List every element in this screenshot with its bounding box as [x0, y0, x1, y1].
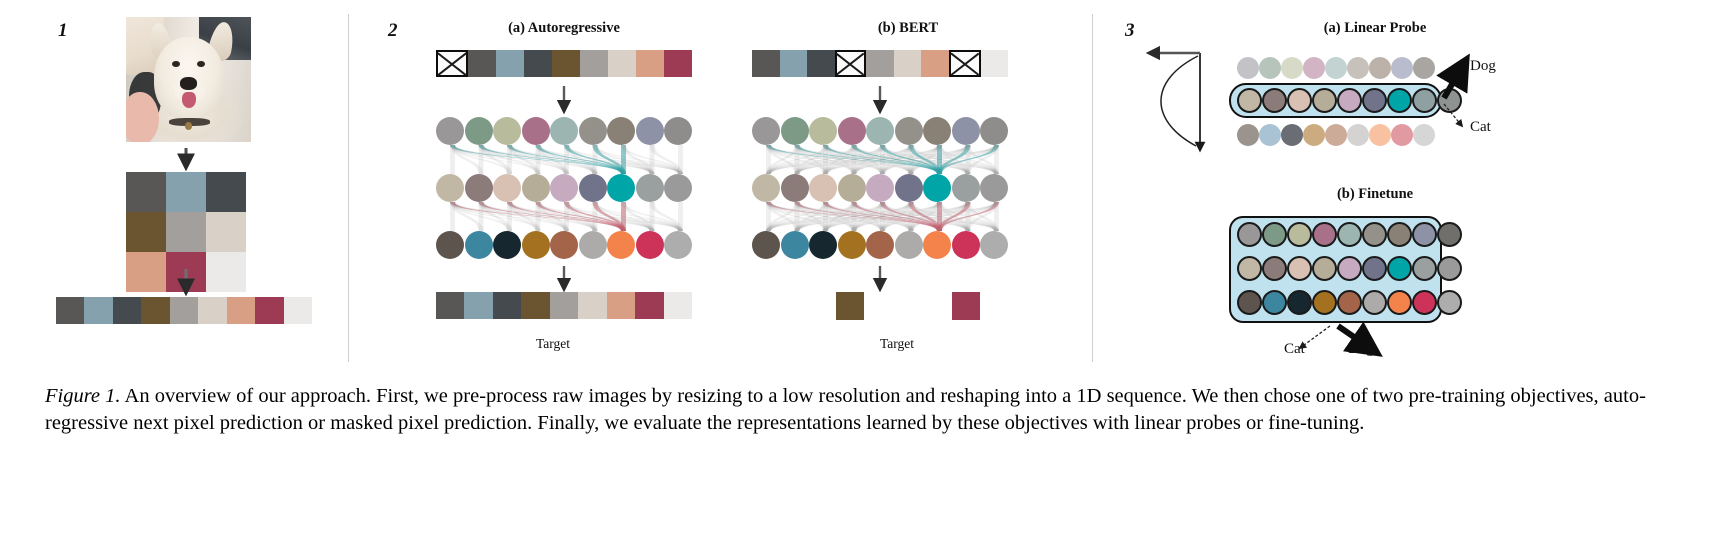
- attention-connection: [766, 145, 857, 174]
- attention-connection: [795, 202, 857, 231]
- attention-connection: [823, 202, 999, 231]
- ar-layer3-node: [550, 231, 578, 259]
- finetune-row1-node: [1237, 222, 1262, 247]
- probe-row-bottom-node: [1303, 124, 1325, 146]
- attention-connection: [507, 145, 569, 174]
- attention-connection: [823, 202, 942, 231]
- finetune-row3-node: [1262, 290, 1287, 315]
- attention-connection: [823, 145, 971, 174]
- attention-connection: [823, 145, 885, 174]
- bert-layer-3: [752, 231, 1008, 259]
- ar-layer2-node: [493, 174, 521, 202]
- attention-connection: [795, 145, 914, 174]
- attention-connection: [852, 202, 886, 231]
- attention-connection: [479, 202, 655, 231]
- probe-row-top-node: [1325, 57, 1347, 79]
- caption-body: An overview of our approach. First, we p…: [45, 385, 1646, 434]
- attention-connection: [852, 145, 943, 174]
- attention-connection: [852, 145, 971, 174]
- ar-layer2-node: [636, 174, 664, 202]
- attention-connection: [852, 202, 971, 231]
- attention-connection: [880, 202, 885, 231]
- attention-connection: [852, 145, 886, 174]
- attention-connection: [937, 145, 942, 174]
- attention-connection: [507, 202, 626, 231]
- attention-connection: [795, 202, 914, 231]
- finetune-row1-node: [1362, 222, 1387, 247]
- attention-connection: [450, 202, 626, 231]
- bert-input-token: [866, 50, 894, 77]
- attention-connection: [621, 145, 683, 174]
- attention-connection: [795, 202, 886, 231]
- attention-connection: [450, 202, 598, 231]
- attention-connection: [450, 145, 626, 174]
- attention-connection: [823, 145, 942, 174]
- attention-connection: [450, 202, 541, 231]
- attention-connection: [795, 145, 971, 174]
- ar-output-token: [464, 292, 492, 319]
- attention-connection: [795, 202, 943, 231]
- attention-connection: [795, 202, 914, 231]
- attention-connection: [880, 145, 914, 174]
- attention-connection: [536, 145, 541, 174]
- attention-connection: [880, 202, 942, 231]
- ar-layer2-node: [607, 174, 635, 202]
- attention-connection: [766, 145, 800, 174]
- attention-connection: [909, 145, 1000, 174]
- probe-row-bottom-node: [1281, 124, 1303, 146]
- bert-layer3-node: [980, 231, 1008, 259]
- attention-connection: [937, 202, 999, 231]
- ar-layer3-node: [493, 231, 521, 259]
- bert-layer2-node: [895, 174, 923, 202]
- finetune-row2-node: [1262, 256, 1287, 281]
- attention-connection: [766, 202, 942, 231]
- attention-connection: [450, 202, 683, 231]
- attention-connection: [852, 145, 914, 174]
- pixel-grid-cell: [206, 212, 246, 252]
- finetune-row2-node: [1337, 256, 1362, 281]
- attention-connection: [880, 145, 942, 174]
- attention-connection: [766, 145, 771, 174]
- sequence-token: [227, 297, 255, 324]
- attention-connection: [852, 202, 943, 231]
- dog-photo: [126, 17, 251, 142]
- probe-row-mid-node: [1437, 88, 1462, 113]
- attention-connection: [564, 202, 655, 231]
- probe-row-top-node: [1347, 57, 1369, 79]
- attention-connection: [880, 202, 914, 231]
- bert-input-token: [752, 50, 780, 77]
- bert-layer3-node: [952, 231, 980, 259]
- finetune-row1-node: [1387, 222, 1412, 247]
- attention-connection: [852, 202, 886, 231]
- finetune-row3-node: [1362, 290, 1387, 315]
- attention-connection: [795, 202, 886, 231]
- bert-layer1-node: [752, 117, 780, 145]
- bert-input-sequence: [752, 50, 1008, 77]
- attention-connection: [766, 145, 942, 174]
- attention-connection: [766, 145, 942, 174]
- attention-connection: [766, 145, 885, 174]
- attention-connection: [966, 145, 1000, 174]
- bert-layer1-node: [866, 117, 894, 145]
- attention-connection: [795, 202, 1000, 231]
- attention-connection: [450, 145, 484, 174]
- ar-output-token: [635, 292, 663, 319]
- attention-connection: [880, 145, 914, 174]
- attention-connection: [880, 202, 971, 231]
- attention-connection: [994, 202, 999, 231]
- attention-connection: [795, 202, 971, 231]
- attention-connection: [450, 145, 598, 174]
- attention-connection: [564, 202, 683, 231]
- attention-connection: [852, 145, 914, 174]
- attention-connection: [678, 202, 683, 231]
- attention-connection: [536, 202, 598, 231]
- attention-connection: [766, 202, 771, 231]
- ar-layer2-node: [550, 174, 578, 202]
- pixel-grid-cell: [166, 172, 206, 212]
- attention-connection: [823, 145, 999, 174]
- attention-connection: [621, 145, 626, 174]
- ar-layer3-node: [579, 231, 607, 259]
- finetune-row1-node: [1437, 222, 1462, 247]
- attention-connection: [823, 202, 914, 231]
- attention-connection: [507, 145, 655, 174]
- attention-connection: [937, 145, 971, 174]
- probe-row-mid-node: [1387, 88, 1412, 113]
- finetune-row1-node: [1337, 222, 1362, 247]
- attention-connection: [823, 145, 857, 174]
- attention-connection: [966, 202, 1000, 231]
- finetune-row1-node: [1312, 222, 1337, 247]
- attention-connection: [766, 145, 999, 174]
- attention-connection: [593, 202, 684, 231]
- bert-layer1-node: [952, 117, 980, 145]
- attention-connection: [564, 145, 626, 174]
- finetune-row3-node: [1337, 290, 1362, 315]
- ar-layer1-node: [636, 117, 664, 145]
- attention-connection: [593, 145, 655, 174]
- bert-layer1-node: [980, 117, 1008, 145]
- finetune-row3-node: [1237, 290, 1262, 315]
- sequence-token: [170, 297, 198, 324]
- probe-row-top-node: [1413, 57, 1435, 79]
- ar-layer1-node: [664, 117, 692, 145]
- ar-layer1-node: [465, 117, 493, 145]
- bert-layer1-node: [895, 117, 923, 145]
- finetune-row2-node: [1362, 256, 1387, 281]
- probe-row-top-node: [1237, 57, 1259, 79]
- finetune-row3-node: [1437, 290, 1462, 315]
- attention-connection: [507, 202, 541, 231]
- attention-connection: [450, 145, 569, 174]
- attention-connection: [852, 202, 857, 231]
- bert-input-token: [780, 50, 808, 77]
- autoregressive-output-sequence: [436, 292, 692, 319]
- linear-probe-title: (a) Linear Probe: [1255, 20, 1495, 37]
- finetune-row2-node: [1312, 256, 1337, 281]
- ar-output-token: [607, 292, 635, 319]
- ar-layer3-node: [465, 231, 493, 259]
- attention-connection: [766, 202, 828, 231]
- attention-connection: [795, 145, 857, 174]
- attention-connection: [852, 145, 1000, 174]
- attention-connection: [795, 145, 1000, 174]
- attention-connection: [507, 145, 541, 174]
- bert-layer1-node: [923, 117, 951, 145]
- attention-connection: [795, 145, 857, 174]
- downsampled-pixel-grid: [126, 172, 246, 292]
- bert-layer3-node: [923, 231, 951, 259]
- ar-output-token: [578, 292, 606, 319]
- ar-layer2-node: [664, 174, 692, 202]
- probe-row-bottom-node: [1325, 124, 1347, 146]
- attention-connection: [852, 202, 943, 231]
- figure-1: 1 2 (a) Autoregressive Target (b) BERT T…: [0, 0, 1710, 546]
- attention-connection: [966, 202, 1000, 231]
- bert-layer1-node: [809, 117, 837, 145]
- finetune-row3-node: [1387, 290, 1412, 315]
- linear-probe-label-cat: Cat: [1470, 119, 1491, 136]
- ar-layer1-node: [579, 117, 607, 145]
- pixel-grid-cell: [206, 172, 246, 212]
- ar-output-token: [493, 292, 521, 319]
- bert-layer2-node: [752, 174, 780, 202]
- attention-connection: [795, 202, 829, 231]
- ar-input-token: [636, 50, 664, 77]
- attention-connection: [852, 202, 914, 231]
- attention-connection: [795, 145, 829, 174]
- attention-connection: [564, 202, 569, 231]
- ar-output-token: [550, 292, 578, 319]
- attention-connection: [795, 202, 971, 231]
- attention-connection: [766, 145, 999, 174]
- attention-connection: [766, 202, 942, 231]
- sequence-token: [84, 297, 112, 324]
- attention-connection: [823, 202, 857, 231]
- attention-connection: [823, 202, 942, 231]
- finetune-row2-node: [1237, 256, 1262, 281]
- attention-connection: [766, 145, 971, 174]
- attention-connection: [880, 145, 971, 174]
- attention-connection: [564, 145, 598, 174]
- bert-layer2-node: [952, 174, 980, 202]
- bert-input-token: [807, 50, 835, 77]
- finetune-row2-node: [1412, 256, 1437, 281]
- attention-connection: [564, 202, 626, 231]
- finetune-title: (b) Finetune: [1255, 186, 1495, 203]
- attention-connection: [536, 202, 627, 231]
- bert-layer3-node: [781, 231, 809, 259]
- attention-connection: [450, 202, 512, 231]
- pixel-grid-cell: [166, 212, 206, 252]
- probe-row-bottom-node: [1369, 124, 1391, 146]
- attention-connection: [766, 145, 800, 174]
- attention-connection: [479, 145, 570, 174]
- bert-layer2-node: [838, 174, 866, 202]
- attention-connection: [823, 145, 942, 174]
- ar-layer1-node: [607, 117, 635, 145]
- attention-connection: [621, 202, 626, 231]
- attention-connection: [450, 202, 655, 231]
- attention-connection: [766, 202, 828, 231]
- pixel-grid-cell: [126, 172, 166, 212]
- attention-connection: [795, 145, 800, 174]
- probe-row-top-node: [1391, 57, 1413, 79]
- bert-input-mask-token: [835, 50, 867, 77]
- attention-connection: [795, 202, 1000, 231]
- ar-layer3-node: [636, 231, 664, 259]
- bert-layer-2: [752, 174, 1008, 202]
- ar-input-token: [524, 50, 552, 77]
- autoregressive-layer-1: [436, 117, 692, 145]
- divider-panel1-panel2: [348, 14, 349, 362]
- finetune-row3-node: [1412, 290, 1437, 315]
- attention-connection: [621, 202, 683, 231]
- finetune-row3-node: [1312, 290, 1337, 315]
- attention-connection: [766, 202, 800, 231]
- finetune-row-1: [1237, 222, 1434, 247]
- attention-connection: [823, 145, 999, 174]
- bert-layer1-node: [838, 117, 866, 145]
- attention-connection: [536, 202, 655, 231]
- ar-output-token: [436, 292, 464, 319]
- panel-number-2: 2: [388, 20, 398, 42]
- attention-connection: [479, 202, 513, 231]
- attention-connection: [795, 145, 914, 174]
- ar-layer2-node: [522, 174, 550, 202]
- finetune-row-3: [1237, 290, 1434, 315]
- bert-input-mask-token: [949, 50, 981, 77]
- attention-connection: [507, 202, 569, 231]
- attention-connection: [650, 202, 684, 231]
- attention-connection: [823, 202, 971, 231]
- finetune-row1-node: [1262, 222, 1287, 247]
- attention-connection: [479, 145, 627, 174]
- ar-layer1-node: [436, 117, 464, 145]
- ar-output-token: [521, 292, 549, 319]
- caption-figure-number: Figure 1.: [45, 385, 121, 407]
- linear-probe-row-top: [1237, 57, 1434, 79]
- ar-layer2-node: [579, 174, 607, 202]
- attention-connection: [766, 202, 999, 231]
- probe-row-top-node: [1369, 57, 1391, 79]
- probe-row-bottom-node: [1347, 124, 1369, 146]
- probe-row-bottom-node: [1237, 124, 1259, 146]
- attention-connection: [766, 145, 857, 174]
- attention-connection: [766, 202, 885, 231]
- attention-connection: [880, 202, 914, 231]
- autoregressive-input-sequence: [436, 50, 692, 77]
- bert-layer2-node: [923, 174, 951, 202]
- attention-connection: [937, 202, 999, 231]
- divider-panel2-panel3: [1092, 14, 1093, 362]
- attention-connection: [479, 145, 598, 174]
- attention-connection: [823, 145, 828, 174]
- attention-connection: [450, 145, 683, 174]
- probe-row-bottom-node: [1391, 124, 1413, 146]
- attention-connection: [795, 145, 943, 174]
- probe-row-mid-node: [1237, 88, 1262, 113]
- attention-connection: [593, 202, 598, 231]
- probe-row-top-node: [1281, 57, 1303, 79]
- attention-connection: [852, 202, 971, 231]
- finetune-row-2: [1237, 256, 1434, 281]
- attention-connection: [909, 202, 971, 231]
- bert-layer3-node: [809, 231, 837, 259]
- attention-connection: [650, 145, 655, 174]
- attention-connection: [479, 202, 627, 231]
- pixel-grid-cell: [126, 252, 166, 292]
- attention-connection: [766, 202, 971, 231]
- attention-connection: [880, 202, 942, 231]
- finetune-row2-node: [1387, 256, 1412, 281]
- finetune-label-cat: Cat: [1284, 341, 1305, 358]
- autoregressive-layer-2: [436, 174, 692, 202]
- attention-connection: [479, 145, 541, 174]
- bert-input-token: [921, 50, 949, 77]
- probe-row-mid-node: [1287, 88, 1312, 113]
- attention-connection: [852, 202, 1000, 231]
- attention-connection: [536, 145, 655, 174]
- attention-connection: [621, 202, 655, 231]
- attention-connection: [593, 202, 627, 231]
- attention-connection: [766, 145, 914, 174]
- bert-input-token: [981, 50, 1009, 77]
- attention-connection: [880, 202, 971, 231]
- attention-connection: [479, 145, 684, 174]
- attention-connection: [909, 202, 943, 231]
- attention-connection: [766, 145, 885, 174]
- attention-connection: [479, 145, 655, 174]
- bert-target-square-1: [836, 292, 864, 320]
- ar-input-token: [580, 50, 608, 77]
- attention-connection: [479, 145, 484, 174]
- probe-row-top-node: [1259, 57, 1281, 79]
- attention-connection: [795, 145, 971, 174]
- probe-row-bottom-node: [1259, 124, 1281, 146]
- ar-layer3-node: [664, 231, 692, 259]
- ar-input-token: [496, 50, 524, 77]
- attention-connection: [450, 202, 455, 231]
- attention-connection: [880, 202, 999, 231]
- attention-connection: [909, 145, 914, 174]
- attention-connection: [937, 145, 999, 174]
- attention-connection: [450, 145, 541, 174]
- attention-connection: [479, 202, 541, 231]
- attention-connection: [564, 145, 569, 174]
- attention-connection: [536, 202, 541, 231]
- attention-connection: [450, 202, 569, 231]
- attention-connection: [621, 145, 655, 174]
- bert-layer-1: [752, 117, 1008, 145]
- attention-connection: [909, 145, 943, 174]
- attention-connection: [450, 145, 655, 174]
- pixel-grid-cell: [206, 252, 246, 292]
- attention-connection: [966, 145, 971, 174]
- finetune-row3-node: [1287, 290, 1312, 315]
- attention-connection: [766, 202, 914, 231]
- finetune-label-dog: Dog: [1348, 341, 1374, 358]
- bert-layer2-node: [781, 174, 809, 202]
- sequence-token: [141, 297, 169, 324]
- attention-connection: [507, 202, 598, 231]
- attention-connection: [966, 202, 971, 231]
- attention-connection: [678, 145, 683, 174]
- attention-connection: [564, 145, 655, 174]
